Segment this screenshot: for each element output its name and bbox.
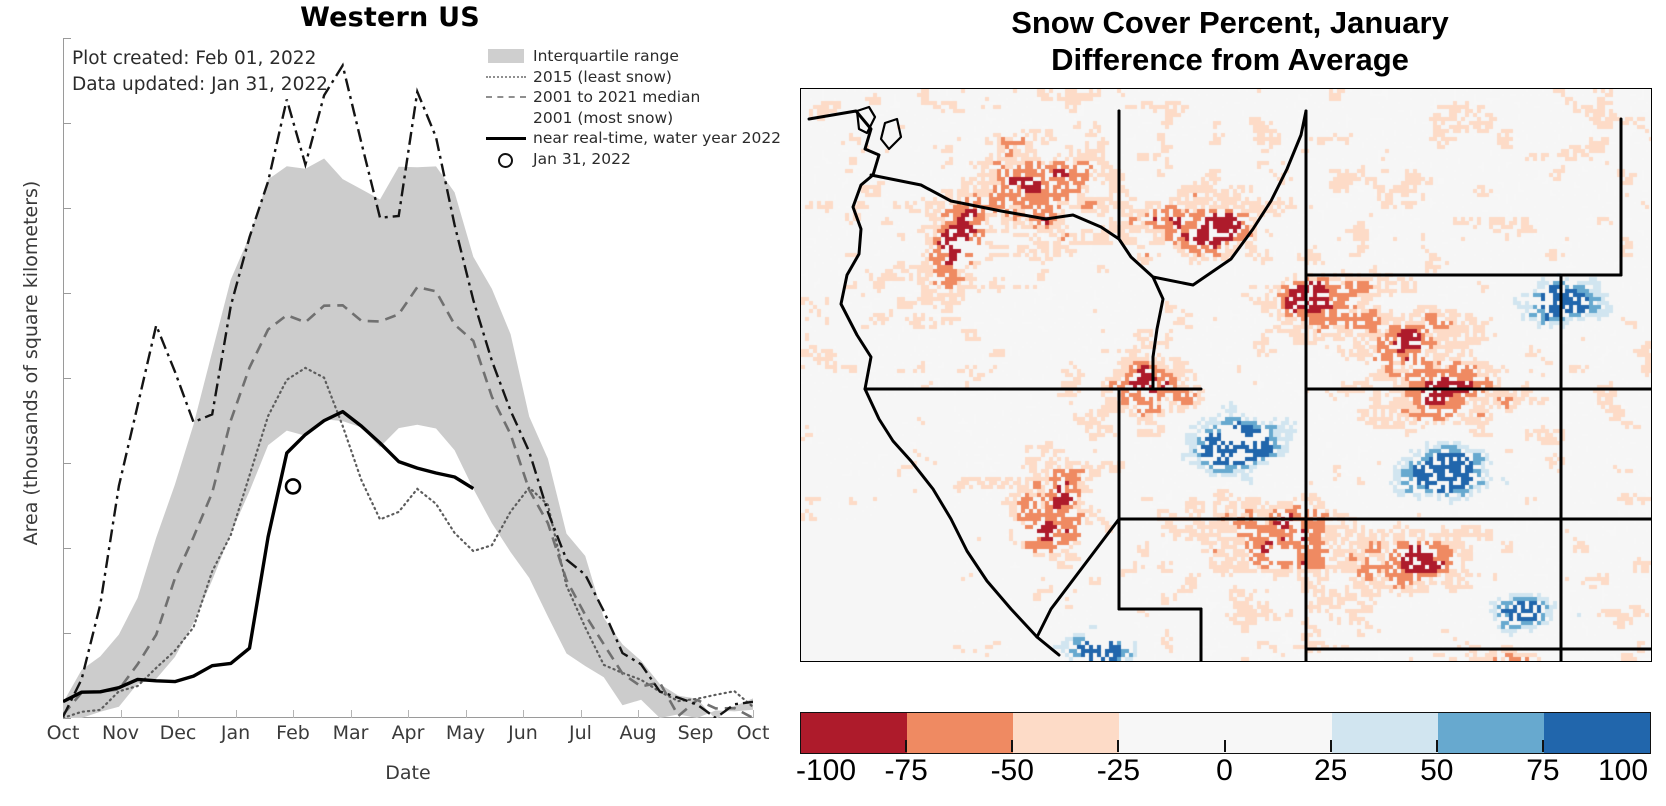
legend-key-circle-icon bbox=[484, 151, 528, 167]
x-tick-mark bbox=[753, 710, 754, 718]
state-border bbox=[1153, 111, 1306, 285]
x-tick-label: Feb bbox=[276, 722, 310, 744]
legend-item-circle: Jan 31, 2022 bbox=[484, 149, 781, 170]
colorbar-tick-label: 25 bbox=[1314, 754, 1347, 788]
legend-label: near real-time, water year 2022 bbox=[533, 129, 781, 147]
y-axis-label: Area (thousands of square kilometers) bbox=[20, 43, 42, 683]
colorbar-tick-label: -25 bbox=[1097, 754, 1140, 788]
state-boundaries bbox=[801, 89, 1651, 661]
figure-root: Western US Area (thousands of square kil… bbox=[0, 0, 1666, 806]
iqr-band bbox=[63, 159, 753, 719]
colorbar-tick-label: -100 bbox=[796, 754, 856, 788]
colorbar-tick-mark bbox=[905, 740, 907, 752]
state-border bbox=[881, 119, 901, 149]
colorbar-tick-mark bbox=[1117, 740, 1119, 752]
state-border bbox=[1037, 519, 1119, 637]
colorbar-tick-label: 100 bbox=[1598, 754, 1648, 788]
state-border bbox=[871, 175, 1119, 239]
legend-key-dashdot-icon bbox=[484, 110, 528, 126]
x-tick-label: Apr bbox=[392, 722, 425, 744]
legend-item-dotted: 2015 (least snow) bbox=[484, 67, 781, 88]
x-tick-label: Sep bbox=[678, 722, 714, 744]
state-border bbox=[1306, 111, 1561, 275]
legend-key-dotted-icon bbox=[484, 69, 528, 85]
x-tick-label: Oct bbox=[47, 722, 80, 744]
annotation-updated: Data updated: Jan 31, 2022 bbox=[72, 74, 328, 95]
x-tick-label: Jan bbox=[221, 722, 250, 744]
colorbar-tick-mark bbox=[1542, 740, 1544, 752]
map-plot-area bbox=[800, 88, 1652, 662]
state-border bbox=[1119, 111, 1163, 389]
x-tick-label: Jun bbox=[508, 722, 538, 744]
colorbar-ticks bbox=[800, 712, 1649, 752]
map-title-line2: Difference from Average bbox=[810, 41, 1650, 78]
annotation-created: Plot created: Feb 01, 2022 bbox=[72, 48, 316, 69]
map-title-line1: Snow Cover Percent, January bbox=[810, 4, 1650, 41]
x-tick-label: Aug bbox=[619, 722, 656, 744]
legend-label: Jan 31, 2022 bbox=[533, 150, 631, 168]
legend-key-solid-icon bbox=[484, 130, 528, 146]
legend-label: Interquartile range bbox=[533, 47, 679, 65]
legend-item-band: Interquartile range bbox=[484, 46, 781, 67]
x-tick-label: Mar bbox=[333, 722, 369, 744]
x-tick-label: Nov bbox=[102, 722, 139, 744]
x-tick-label: Oct bbox=[737, 722, 770, 744]
y-tick-mark bbox=[63, 718, 71, 719]
colorbar-tick-mark bbox=[1224, 740, 1226, 752]
latest-date-marker bbox=[286, 479, 300, 493]
colorbar-tick-label: -75 bbox=[884, 754, 927, 788]
legend-key-dashed-icon bbox=[484, 89, 528, 105]
colorbar-labels: -100-75-50-250255075100 bbox=[800, 754, 1649, 798]
state-border bbox=[1306, 275, 1561, 389]
legend-item-dashdot: 2001 (most snow) bbox=[484, 108, 781, 129]
colorbar-tick-label: 75 bbox=[1526, 754, 1559, 788]
legend-item-dashed: 2001 to 2021 median bbox=[484, 87, 781, 108]
x-tick-label: Dec bbox=[160, 722, 197, 744]
state-border bbox=[1119, 389, 1306, 519]
legend-label: 2001 (most snow) bbox=[533, 109, 673, 127]
timeseries-panel: Western US Area (thousands of square kil… bbox=[0, 0, 790, 806]
legend-key-band-icon bbox=[484, 48, 528, 64]
x-axis-label: Date bbox=[63, 762, 753, 784]
legend-item-solid: near real-time, water year 2022 bbox=[484, 128, 781, 149]
timeseries-legend: Interquartile range2015 (least snow)2001… bbox=[484, 46, 781, 169]
colorbar-tick-label: 0 bbox=[1216, 754, 1233, 788]
colorbar-tick-mark bbox=[1330, 740, 1332, 752]
plot-annotations: Plot created: Feb 01, 2022 Data updated:… bbox=[72, 46, 328, 98]
legend-label: 2001 to 2021 median bbox=[533, 88, 700, 106]
colorbar-tick-label: 50 bbox=[1420, 754, 1453, 788]
x-tick-label: Jul bbox=[569, 722, 592, 744]
timeseries-title: Western US bbox=[0, 2, 780, 33]
state-border bbox=[1306, 519, 1561, 649]
colorbar-tick-label: -50 bbox=[991, 754, 1034, 788]
colorbar-tick-mark bbox=[1011, 740, 1013, 752]
x-tick-label: May bbox=[446, 722, 485, 744]
state-border bbox=[1306, 389, 1561, 519]
legend-label: 2015 (least snow) bbox=[533, 68, 672, 86]
colorbar-tick-mark bbox=[1436, 740, 1438, 752]
map-title: Snow Cover Percent, January Difference f… bbox=[810, 4, 1650, 78]
